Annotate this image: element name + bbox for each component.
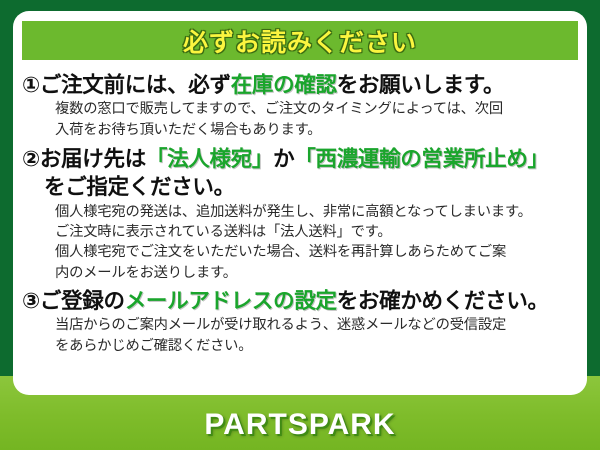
- notice-item-2-heading-highlight-2: 「西濃運輸の営業所止め」: [294, 147, 548, 171]
- notice-items-list: ①ご注文前には、必ず在庫の確認をお願いします。 複数の窓口で販売してますので、ご…: [13, 67, 587, 359]
- notice-item-2-heading: ②お届け先は「法人様宛」か「西濃運輸の営業所止め」: [13, 145, 587, 173]
- notice-item-3: ③ご登録のメールアドレスの設定をお確かめください。 当店からのご案内メールが受け…: [13, 287, 587, 356]
- notice-item-2-heading-mid: か: [273, 147, 294, 171]
- notice-item-2: ②お届け先は「法人様宛」か「西濃運輸の営業所止め」 をご指定ください。 個人様宅…: [13, 145, 587, 283]
- notice-item-1-heading-tail: をお願いします。: [337, 73, 504, 97]
- notice-item-3-heading-highlight: メールアドレスの設定: [125, 289, 337, 313]
- notice-item-2-subline-3: 個人様宅宛でご注文をいただいた場合、送料を再計算しあらためてご案: [13, 242, 587, 262]
- notice-card: PARTSPARK 必ずお読みください ①ご注文前には、必ず在庫の確認をお願いし…: [0, 0, 600, 450]
- notice-item-1-subline-1: 複数の窓口で販売してますので、ご注文のタイミングによっては、次回: [13, 99, 587, 119]
- brand-logo: PARTSPARK: [0, 408, 600, 442]
- notice-item-1-subline-2: 入荷をお待ち頂いただく場合もあります。: [13, 120, 587, 140]
- notice-item-1-heading-lead: ①ご注文前には、必ず: [22, 73, 231, 97]
- notice-item-2-subline-1: 個人様宅宛の発送は、追加送料が発生し、非常に高額となってしまいます。: [13, 202, 587, 222]
- notice-item-2-heading-line2: をご指定ください。: [13, 173, 587, 201]
- notice-item-2-heading-lead: ②お届け先は: [22, 147, 146, 171]
- content-panel: 必ずお読みください ①ご注文前には、必ず在庫の確認をお願いします。 複数の窓口で…: [13, 11, 587, 395]
- notice-item-3-heading-lead: ③ご登録の: [22, 289, 125, 313]
- notice-item-1-heading-highlight: 在庫の確認: [231, 73, 337, 97]
- notice-item-2-heading-highlight-1: 「法人様宛」: [146, 147, 273, 171]
- page-title: 必ずお読みください: [183, 23, 417, 59]
- notice-item-2-subline-2: ご注文時に表示されている送料は「法人送料」です。: [13, 222, 587, 242]
- notice-item-2-subline-4: 内のメールをお送りします。: [13, 263, 587, 283]
- notice-item-3-heading-tail: をお確かめください。: [337, 289, 549, 313]
- notice-item-3-subline-2: をあらかじめご確認ください。: [13, 336, 587, 356]
- title-banner: 必ずお読みください: [22, 21, 578, 60]
- notice-item-3-heading: ③ご登録のメールアドレスの設定をお確かめください。: [13, 287, 587, 315]
- notice-item-1: ①ご注文前には、必ず在庫の確認をお願いします。 複数の窓口で販売してますので、ご…: [13, 71, 587, 140]
- notice-item-3-subline-1: 当店からのご案内メールが受け取れるよう、迷惑メールなどの受信設定: [13, 315, 587, 335]
- notice-item-1-heading: ①ご注文前には、必ず在庫の確認をお願いします。: [13, 71, 587, 99]
